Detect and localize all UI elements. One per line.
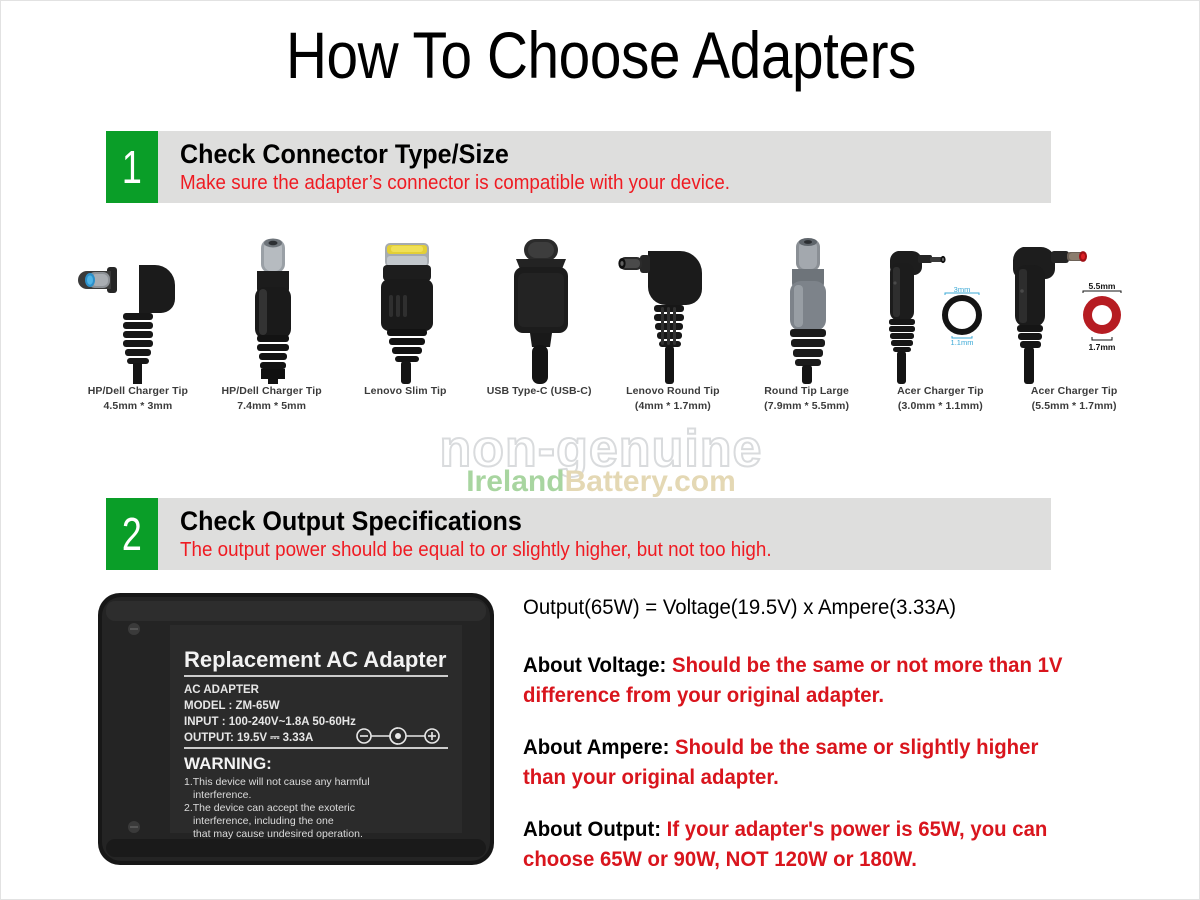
connector-item-1-size: 4.5mm * 3mm <box>88 399 188 414</box>
page-title: How To Choose Adapters <box>85 15 1117 95</box>
watermark-brand: IrelandBattery.com <box>1 465 1200 499</box>
connector-item-1-label: HP/Dell Charger Tip 4.5mm * 3mm <box>88 384 188 414</box>
step-1-subtitle: Make sure the adapter’s connector is com… <box>180 170 999 197</box>
step-2-text-group: Check Output Specifications The output p… <box>158 498 1051 570</box>
infographic-page: How To Choose Adapters 1 Check Connector… <box>0 0 1200 900</box>
spec-voltage: About Voltage: Should be the same or not… <box>523 651 1081 711</box>
adapter-label-model: MODEL : ZM-65W <box>184 700 280 712</box>
step-1-text-group: Check Connector Type/Size Make sure the … <box>158 131 1051 203</box>
connector-item-8-name: Acer Charger Tip <box>1031 385 1118 397</box>
connector-item-2[interactable]: HP/Dell Charger Tip 7.4mm * 5mm <box>205 229 339 439</box>
watermark-brand-part2: Battery.com <box>565 465 736 498</box>
adapter-label-input: INPUT : 100-240V~1.8A 50-60Hz <box>184 716 356 728</box>
polarity-symbol-icon <box>357 728 439 744</box>
connector-item-2-size: 7.4mm * 5mm <box>221 399 321 414</box>
step-2-banner: 2 Check Output Specifications The output… <box>106 498 1051 570</box>
connector-item-3-name: Lenovo Slim Tip <box>364 385 446 397</box>
adapter-warning-line-2: interference. <box>193 789 251 801</box>
connector-item-6-size: (7.9mm * 5.5mm) <box>764 399 849 414</box>
step-1-number-badge: 1 <box>106 131 158 203</box>
connector-item-2-label: HP/Dell Charger Tip 7.4mm * 5mm <box>221 384 321 414</box>
step-2-title: Check Output Specifications <box>180 505 990 537</box>
connector-item-4-name: USB Type-C (USB-C) <box>487 385 592 397</box>
usb-type-c-connector-icon <box>472 229 606 384</box>
adapter-warning-line-5: that may cause undesired operation. <box>193 828 363 840</box>
adapter-warning-heading: WARNING: <box>184 754 272 773</box>
connector-item-6-label: Round Tip Large (7.9mm * 5.5mm) <box>764 384 849 414</box>
spec-output-text-1: If your adapter's power is 65W, <box>667 818 965 841</box>
step-2-subtitle: The output power should be equal to or s… <box>180 537 999 564</box>
output-spec-text-block: Output(65W) = Voltage(19.5V) x Ampere(3.… <box>523 593 1098 897</box>
step-1-title: Check Connector Type/Size <box>180 138 990 170</box>
connector-item-2-name: HP/Dell Charger Tip <box>221 385 321 397</box>
connector-item-8[interactable]: 5.5mm 1.7mm Acer Charger Tip (5.5mm * 1.… <box>1007 229 1141 439</box>
connector-item-7-label: Acer Charger Tip (3.0mm * 1.1mm) <box>897 384 984 414</box>
adapter-label-output: OUTPUT: 19.5V ⎓ 3.33A <box>184 732 313 744</box>
connector-item-5-size: (4mm * 1.7mm) <box>626 399 720 414</box>
connector-item-8-size: (5.5mm * 1.7mm) <box>1031 399 1118 414</box>
step-1-banner: 1 Check Connector Type/Size Make sure th… <box>106 131 1051 203</box>
lenovo-slim-rectangular-tip-icon <box>339 229 473 384</box>
step-2-number-badge: 2 <box>106 498 158 570</box>
spec-output-lead: About Output: <box>523 818 661 841</box>
adapter-label-type: AC ADAPTER <box>184 684 260 696</box>
ac-adapter-photo: Replacement AC Adapter AC ADAPTER MODEL … <box>96 589 496 879</box>
connector-item-7-name: Acer Charger Tip <box>897 385 984 397</box>
connector-item-5-label: Lenovo Round Tip (4mm * 1.7mm) <box>626 384 720 414</box>
lenovo-round-right-angle-tip-icon <box>606 229 740 384</box>
acer-charger-tip-large-icon: 5.5mm 1.7mm <box>1007 229 1141 384</box>
svg-text:3mm: 3mm <box>953 285 970 294</box>
svg-text:1.1mm: 1.1mm <box>950 338 973 347</box>
hp-dell-right-angle-tip-icon <box>71 229 205 384</box>
watermark-brand-part1: Ireland <box>466 465 564 498</box>
spec-ampere-text-1: Should be the same or slightly <box>675 736 970 759</box>
connector-item-1[interactable]: HP/Dell Charger Tip 4.5mm * 3mm <box>71 229 205 439</box>
spec-voltage-lead: About Voltage: <box>523 654 666 677</box>
hp-dell-straight-barrel-tip-icon <box>205 229 339 384</box>
connector-item-3[interactable]: Lenovo Slim Tip <box>339 229 473 439</box>
adapter-warning-line-1: 1.This device will not cause any harmful <box>184 776 370 788</box>
acer-charger-tip-small-icon: 3mm 1.1mm <box>874 229 1008 384</box>
connector-item-5-name: Lenovo Round Tip <box>626 385 720 397</box>
spec-formula: Output(65W) = Voltage(19.5V) x Ampere(3.… <box>523 593 1081 623</box>
svg-text:1.7mm: 1.7mm <box>1089 342 1116 352</box>
round-tip-large-icon <box>740 229 874 384</box>
step-1-number: 1 <box>122 131 142 203</box>
connector-item-4-label: USB Type-C (USB-C) <box>487 384 592 399</box>
spec-output: About Output: If your adapter's power is… <box>523 815 1081 875</box>
connector-gallery: HP/Dell Charger Tip 4.5mm * 3mm <box>71 229 1141 439</box>
connector-item-6[interactable]: Round Tip Large (7.9mm * 5.5mm) <box>740 229 874 439</box>
connector-item-6-name: Round Tip Large <box>764 385 849 397</box>
spec-ampere: About Ampere: Should be the same or slig… <box>523 733 1081 793</box>
spec-voltage-text-1: Should be the same or not more <box>672 654 983 677</box>
step-2-number: 2 <box>122 498 142 570</box>
connector-item-7[interactable]: 3mm 1.1mm Acer Charger Tip (3.0mm * 1.1m… <box>874 229 1008 439</box>
connector-item-3-label: Lenovo Slim Tip <box>364 384 446 399</box>
connector-item-4[interactable]: USB Type-C (USB-C) <box>472 229 606 439</box>
adapter-warning-line-3: 2.The device can accept the exoteric <box>184 802 355 814</box>
connector-item-7-size: (3.0mm * 1.1mm) <box>897 399 984 414</box>
connector-item-1-name: HP/Dell Charger Tip <box>88 385 188 397</box>
adapter-warning-line-4: interference, including the one <box>193 815 334 827</box>
adapter-label-heading: Replacement AC Adapter <box>184 647 447 672</box>
spec-ampere-lead: About Ampere: <box>523 736 669 759</box>
connector-item-8-label: Acer Charger Tip (5.5mm * 1.7mm) <box>1031 384 1118 414</box>
svg-text:5.5mm: 5.5mm <box>1089 281 1116 291</box>
connector-item-5[interactable]: Lenovo Round Tip (4mm * 1.7mm) <box>606 229 740 439</box>
